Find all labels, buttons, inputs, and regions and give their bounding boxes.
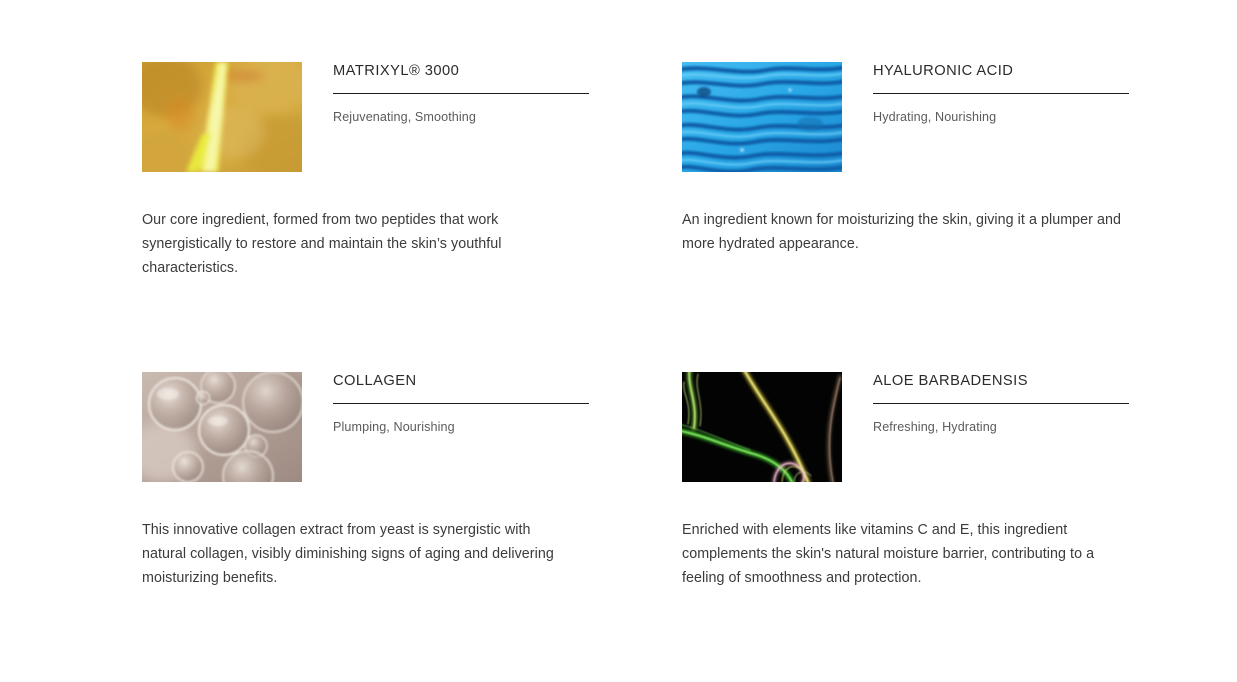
ingredient-card-matrixyl: MATRIXYL® 3000 Rejuvenating, Smoothing O… [142,62,642,372]
card-heading-block: COLLAGEN Plumping, Nourishing [333,372,642,436]
ingredients-grid: MATRIXYL® 3000 Rejuvenating, Smoothing O… [0,62,1237,682]
collagen-thumbnail [142,372,302,482]
ingredients-section: MATRIXYL® 3000 Rejuvenating, Smoothing O… [0,0,1237,677]
card-header: ALOE BARBADENSIS Refreshing, Hydrating [682,372,1182,482]
ingredient-tags: Rejuvenating, Smoothing [333,94,642,126]
ingredient-description: Enriched with elements like vitamins C a… [682,482,1122,590]
ingredient-title: COLLAGEN [333,372,642,403]
card-header: COLLAGEN Plumping, Nourishing [142,372,642,482]
hyaluronic-acid-thumbnail [682,62,842,172]
ingredient-card-hyaluronic-acid: HYALURONIC ACID Hydrating, Nourishing An… [682,62,1182,372]
ingredient-description: An ingredient known for moisturizing the… [682,172,1122,256]
ingredient-description: This innovative collagen extract from ye… [142,482,562,590]
card-header: HYALURONIC ACID Hydrating, Nourishing [682,62,1182,172]
ingredient-title: ALOE BARBADENSIS [873,372,1182,403]
aloe-barbadensis-thumbnail [682,372,842,482]
matrixyl-thumbnail [142,62,302,172]
ingredient-tags: Refreshing, Hydrating [873,404,1182,436]
ingredient-title: MATRIXYL® 3000 [333,62,642,93]
ingredient-description: Our core ingredient, formed from two pep… [142,172,562,280]
ingredient-card-collagen: COLLAGEN Plumping, Nourishing This innov… [142,372,642,682]
card-heading-block: HYALURONIC ACID Hydrating, Nourishing [873,62,1182,126]
card-heading-block: ALOE BARBADENSIS Refreshing, Hydrating [873,372,1182,436]
ingredient-card-aloe-barbadensis: ALOE BARBADENSIS Refreshing, Hydrating E… [682,372,1182,682]
card-header: MATRIXYL® 3000 Rejuvenating, Smoothing [142,62,642,172]
ingredient-tags: Hydrating, Nourishing [873,94,1182,126]
ingredient-title: HYALURONIC ACID [873,62,1182,93]
card-heading-block: MATRIXYL® 3000 Rejuvenating, Smoothing [333,62,642,126]
ingredient-tags: Plumping, Nourishing [333,404,642,436]
